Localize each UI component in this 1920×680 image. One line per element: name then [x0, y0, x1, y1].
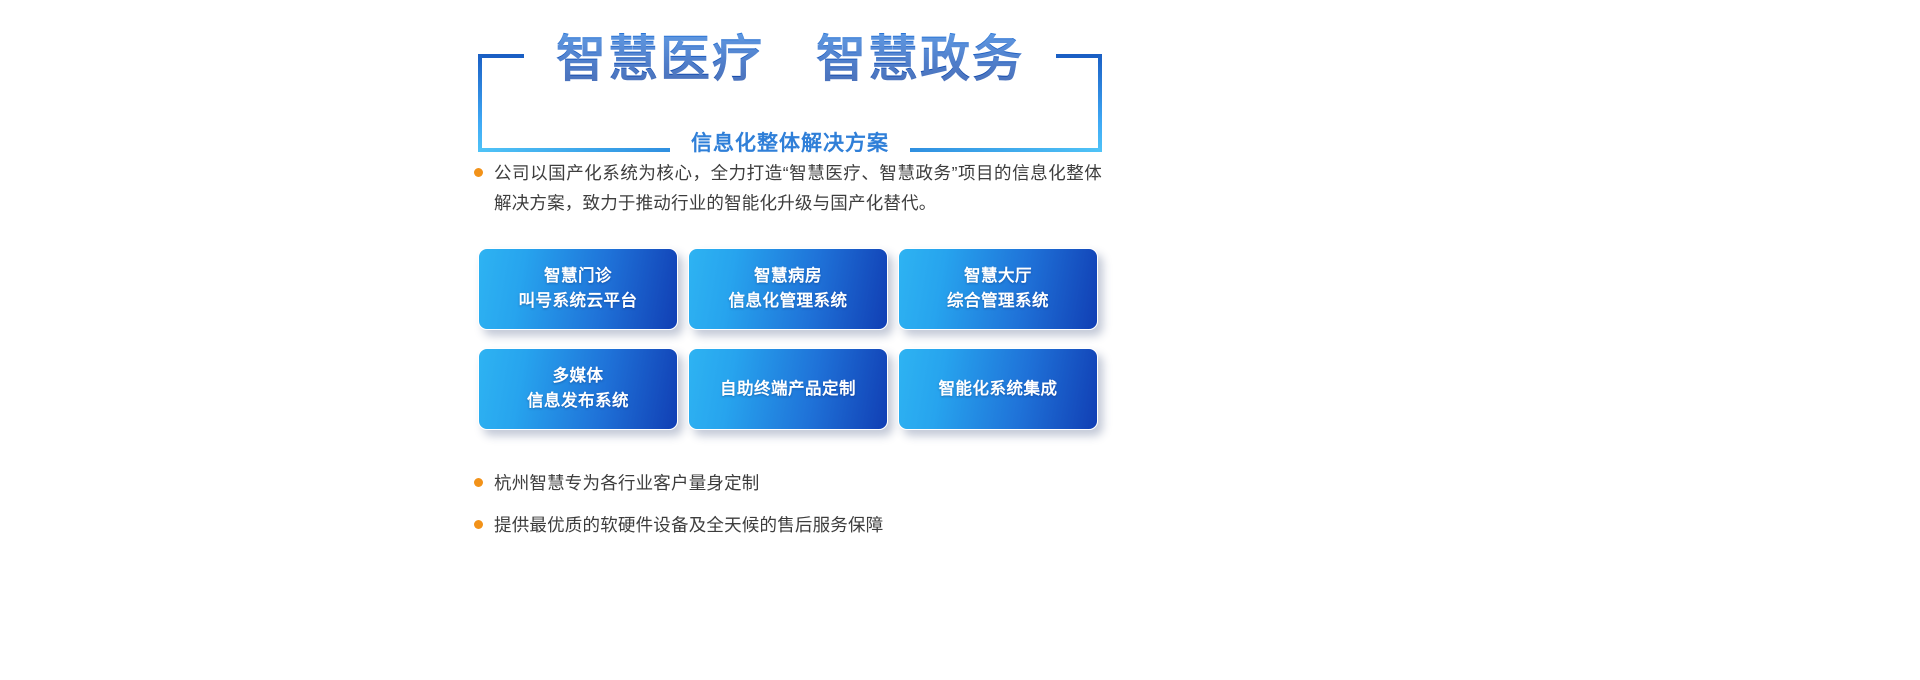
promo-banner: 智慧医疗 智慧政务 信息化整体解决方案 公司以国产化系统为核心，全力打造“智慧医…: [0, 0, 1920, 680]
solution-card-label: 智慧大厅 综合管理系统: [947, 264, 1049, 314]
footer-bullet-text: 提供最优质的软硬件设备及全天候的售后服务保障: [494, 512, 883, 538]
solution-card[interactable]: 智慧病房 信息化管理系统: [688, 248, 888, 330]
bullet-dot-icon: [474, 478, 483, 487]
solution-card-label: 多媒体 信息发布系统: [527, 364, 629, 414]
list-item: 杭州智慧专为各行业客户量身定制: [474, 470, 1102, 496]
bullet-dot-icon: [474, 168, 483, 177]
solution-card[interactable]: 智慧门诊 叫号系统云平台: [478, 248, 678, 330]
list-item: 提供最优质的软硬件设备及全天候的售后服务保障: [474, 512, 1102, 538]
bullet-dot-icon: [474, 520, 483, 529]
solution-card[interactable]: 智慧大厅 综合管理系统: [898, 248, 1098, 330]
solution-card-label: 智慧门诊 叫号系统云平台: [519, 264, 638, 314]
solution-card[interactable]: 自助终端产品定制: [688, 348, 888, 430]
title-block: 智慧医疗 智慧政务 信息化整体解决方案: [470, 26, 1110, 136]
footer-bullet-text: 杭州智慧专为各行业客户量身定制: [494, 470, 760, 496]
content-column: 智慧医疗 智慧政务 信息化整体解决方案 公司以国产化系统为核心，全力打造“智慧医…: [470, 0, 1110, 680]
solution-card-label: 智慧病房 信息化管理系统: [729, 264, 848, 314]
solution-card[interactable]: 多媒体 信息发布系统: [478, 348, 678, 430]
solution-card-label: 自助终端产品定制: [720, 377, 856, 402]
footer-bullet-list: 杭州智慧专为各行业客户量身定制 提供最优质的软硬件设备及全天候的售后服务保障: [474, 470, 1102, 554]
page-title: 智慧医疗 智慧政务: [470, 26, 1110, 92]
solution-card-grid: 智慧门诊 叫号系统云平台 智慧病房 信息化管理系统 智慧大厅 综合管理系统 多媒…: [478, 248, 1098, 430]
lead-paragraph: 公司以国产化系统为核心，全力打造“智慧医疗、智慧政务”项目的信息化整体解决方案，…: [474, 158, 1102, 218]
page-subtitle: 信息化整体解决方案: [470, 130, 1110, 158]
solution-card-label: 智能化系统集成: [939, 377, 1058, 402]
solution-card[interactable]: 智能化系统集成: [898, 348, 1098, 430]
lead-paragraph-text: 公司以国产化系统为核心，全力打造“智慧医疗、智慧政务”项目的信息化整体解决方案，…: [494, 158, 1102, 218]
